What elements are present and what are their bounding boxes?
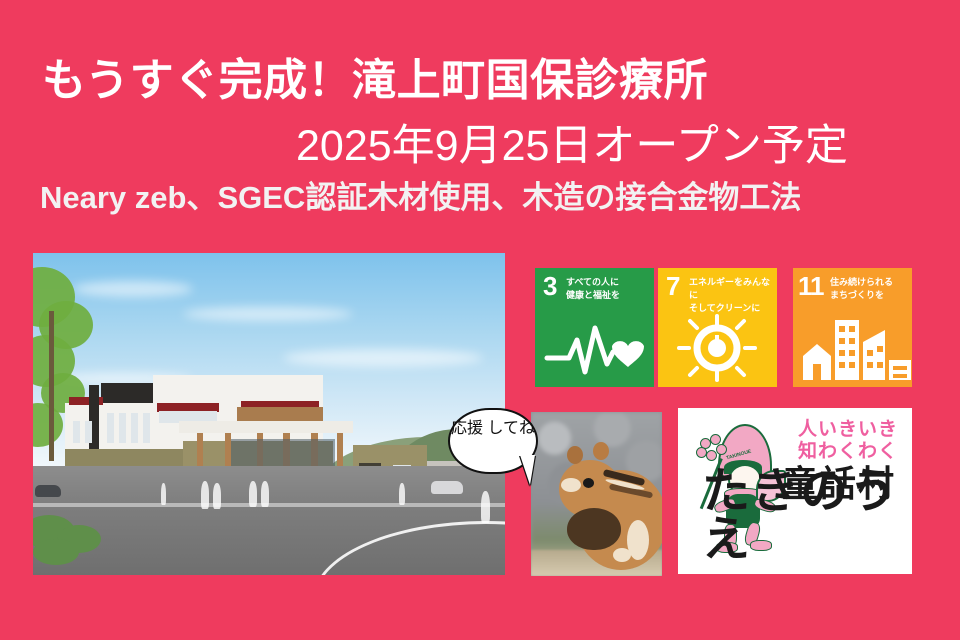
sdg-goal-label: すべての人に 健康と福祉を <box>566 276 620 302</box>
poster-canvas: もうすぐ完成！滝上町国保診療所 2025年9月25日オープン予定 Neary z… <box>0 0 960 640</box>
logo-inner-panel: TAKINOUE 人いきいき 知わくわく <box>684 414 906 568</box>
window <box>119 413 126 443</box>
logo-tagline: 人いきいき 知わくわく <box>798 419 898 464</box>
headline-subtitle: Neary zeb、SGEC認証木材使用、木造の接合金物工法 <box>40 182 801 215</box>
acorn-shell <box>567 508 621 550</box>
sakura-petal <box>696 447 707 458</box>
window <box>85 421 92 443</box>
figure-person <box>161 483 166 505</box>
headline-opening-date: 2025年9月25日オープン予定 <box>296 124 848 169</box>
sdg-goal-3-card[interactable]: 3 すべての人に 健康と福祉を <box>535 268 654 387</box>
window <box>73 421 80 443</box>
cloud-shape <box>73 281 193 297</box>
sdg-goal-number: 11 <box>798 273 824 299</box>
cloud-shape <box>183 307 353 321</box>
sakura-petal <box>706 450 717 461</box>
foreground-bush <box>33 539 79 565</box>
chipmunk-ear <box>593 442 609 460</box>
speech-bubble-tail <box>520 455 535 485</box>
curb-line <box>33 503 505 507</box>
speech-bubble-text: 応援 してね <box>450 419 536 439</box>
figure-person <box>201 481 209 509</box>
sdg-goal-number: 7 <box>666 273 680 299</box>
figure-person <box>213 483 221 509</box>
chipmunk-photo <box>531 412 662 576</box>
parked-car <box>431 481 463 494</box>
figure-person <box>399 483 405 505</box>
tree-trunk <box>49 311 54 461</box>
chipmunk-paw <box>613 548 631 562</box>
cityscape-icon <box>793 312 912 384</box>
chipmunk-ear <box>567 446 583 464</box>
takinoue-town-logo: TAKINOUE 人いきいき 知わくわく <box>678 408 912 574</box>
logo-takinoue-text: たきのうえ <box>702 468 906 564</box>
heartbeat-icon <box>535 312 654 384</box>
figure-person <box>481 491 490 523</box>
clinic-exterior-rendering <box>33 253 505 575</box>
sun-power-icon <box>658 312 777 384</box>
sdg-goal-label: エネルギーをみんなに そしてクリーンに <box>689 276 777 315</box>
sdg-goal-number: 3 <box>543 273 557 299</box>
entrance-timber-roof <box>237 407 323 421</box>
parked-car <box>35 485 61 497</box>
cloud-shape <box>283 349 483 367</box>
sdg-goal-label: 住み続けられる まちづくりを <box>830 276 893 302</box>
sakura-petal <box>716 444 727 455</box>
chipmunk-muzzle <box>561 478 581 492</box>
headline-primary: もうすぐ完成！滝上町国保診療所 <box>42 58 708 104</box>
window <box>107 413 114 443</box>
chipmunk-eye <box>583 478 594 488</box>
figure-person <box>249 481 257 507</box>
window <box>131 413 138 443</box>
window <box>143 413 150 443</box>
sdg-goal-11-card[interactable]: 11 住み続けられる まちづくりを <box>793 268 912 387</box>
figure-person <box>261 481 269 507</box>
sdg-goal-7-card[interactable]: 7 エネルギーをみんなに そしてクリーンに <box>658 268 777 387</box>
entrance-canopy <box>179 421 353 433</box>
